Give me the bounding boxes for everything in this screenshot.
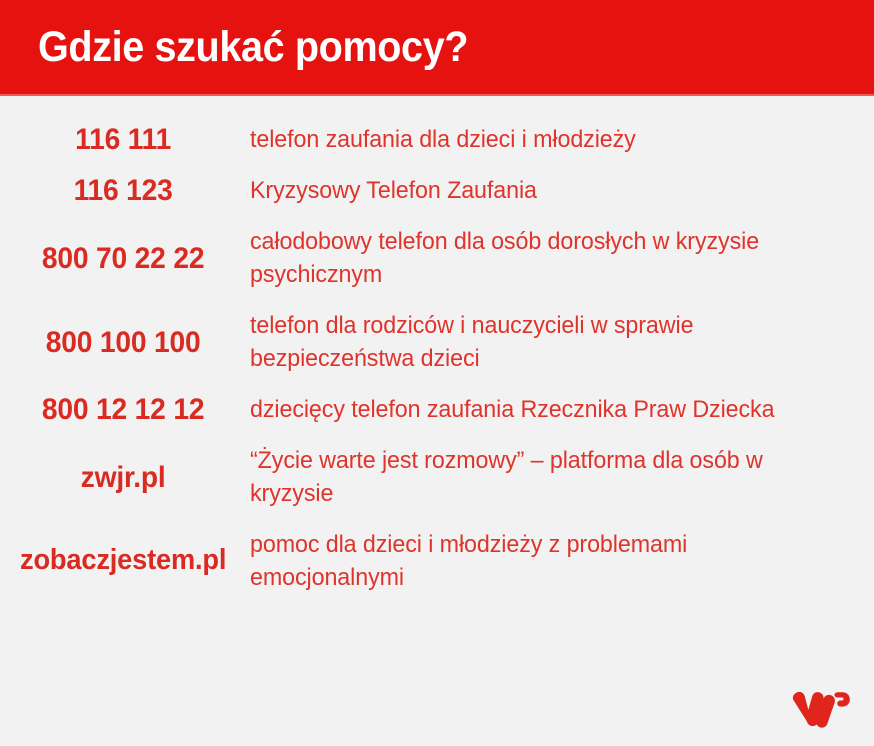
contact-website: zwjr.pl xyxy=(8,461,243,494)
contact-description: telefon zaufania dla dzieci i młodzieży xyxy=(250,123,833,156)
list-item: zobaczjestem.pl pomoc dla dzieci i młodz… xyxy=(0,519,864,603)
contact-description: dziecięcy telefon zaufania Rzecznika Pra… xyxy=(250,393,833,426)
contact-number: 800 12 12 12 xyxy=(8,393,243,426)
contact-description: całodobowy telefon dla osób dorosłych w … xyxy=(250,225,833,291)
contact-number: 800 70 22 22 xyxy=(8,242,243,275)
contact-description: pomoc dla dzieci i młodzieży z problemam… xyxy=(250,528,833,594)
list-item: zwjr.pl “Życie warte jest rozmowy” – pla… xyxy=(0,435,864,519)
contact-description: telefon dla rodziców i nauczycieli w spr… xyxy=(250,309,833,375)
help-infographic: Gdzie szukać pomocy? 116 111 telefon zau… xyxy=(0,0,874,746)
wp-logo-icon xyxy=(792,688,850,728)
help-list: 116 111 telefon zaufania dla dzieci i mł… xyxy=(0,96,874,670)
contact-description: Kryzysowy Telefon Zaufania xyxy=(250,174,833,207)
contact-number: 800 100 100 xyxy=(8,326,243,359)
header-band: Gdzie szukać pomocy? xyxy=(0,0,874,96)
footer-bar xyxy=(0,670,874,746)
contact-number: 116 111 xyxy=(8,123,243,156)
list-item: 800 70 22 22 całodobowy telefon dla osób… xyxy=(0,216,864,300)
list-item: 800 100 100 telefon dla rodziców i naucz… xyxy=(0,300,864,384)
list-item: 116 123 Kryzysowy Telefon Zaufania xyxy=(0,165,864,216)
list-item: 800 12 12 12 dziecięcy telefon zaufania … xyxy=(0,384,864,435)
contact-description: “Życie warte jest rozmowy” – platforma d… xyxy=(250,444,833,510)
contact-website: zobaczjestem.pl xyxy=(8,545,243,577)
contact-number: 116 123 xyxy=(8,174,243,207)
page-title: Gdzie szukać pomocy? xyxy=(38,26,468,69)
list-item: 116 111 telefon zaufania dla dzieci i mł… xyxy=(0,114,864,165)
